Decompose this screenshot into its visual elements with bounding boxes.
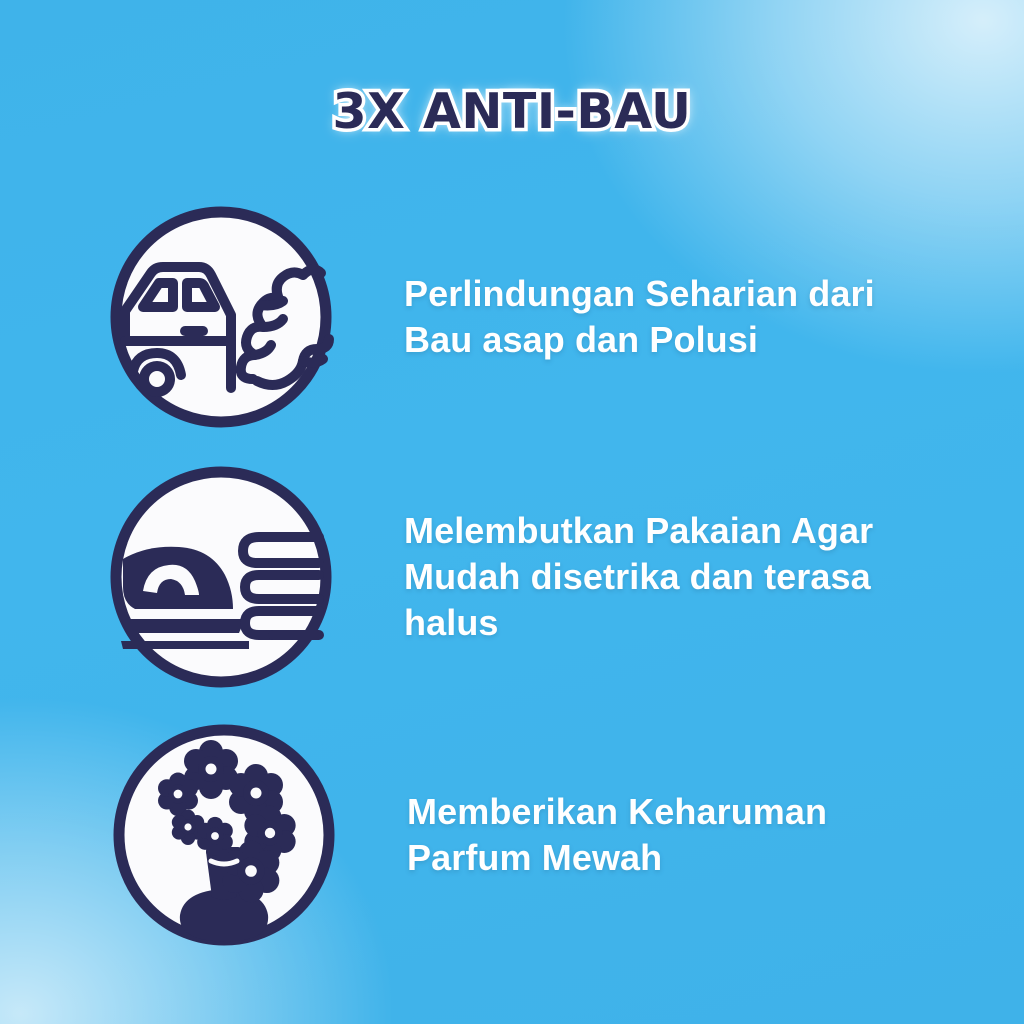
- car-exhaust-smoke-icon: [107, 203, 335, 431]
- promo-poster: 3X ANTI-BAU: [0, 0, 1024, 1024]
- feature-description: Perlindungan Seharian dari Bau asap dan …: [404, 271, 875, 363]
- feature-line: halus: [404, 600, 873, 646]
- feature-item: Perlindungan Seharian dari Bau asap dan …: [0, 186, 1024, 448]
- feature-description: Melembutkan Pakaian Agar Mudah disetrika…: [404, 508, 873, 646]
- feature-line: Mudah disetrika dan terasa: [404, 554, 873, 600]
- feature-item: Melembutkan Pakaian Agar Mudah disetrika…: [0, 448, 1024, 706]
- feature-line: Parfum Mewah: [407, 835, 827, 881]
- feature-list: Perlindungan Seharian dari Bau asap dan …: [0, 186, 1024, 964]
- feature-line: Bau asap dan Polusi: [404, 317, 875, 363]
- feature-description: Memberikan Keharuman Parfum Mewah: [407, 789, 827, 881]
- perfume-bottle-flowers-icon: [110, 721, 338, 949]
- feature-line: Memberikan Keharuman: [407, 789, 827, 835]
- iron-folded-laundry-icon: [107, 463, 335, 691]
- page-title-container: 3X ANTI-BAU: [0, 86, 1024, 137]
- feature-line: Perlindungan Seharian dari: [404, 271, 875, 317]
- feature-item: Memberikan Keharuman Parfum Mewah: [0, 706, 1024, 964]
- page-title: 3X ANTI-BAU: [333, 86, 692, 137]
- feature-line: Melembutkan Pakaian Agar: [404, 508, 873, 554]
